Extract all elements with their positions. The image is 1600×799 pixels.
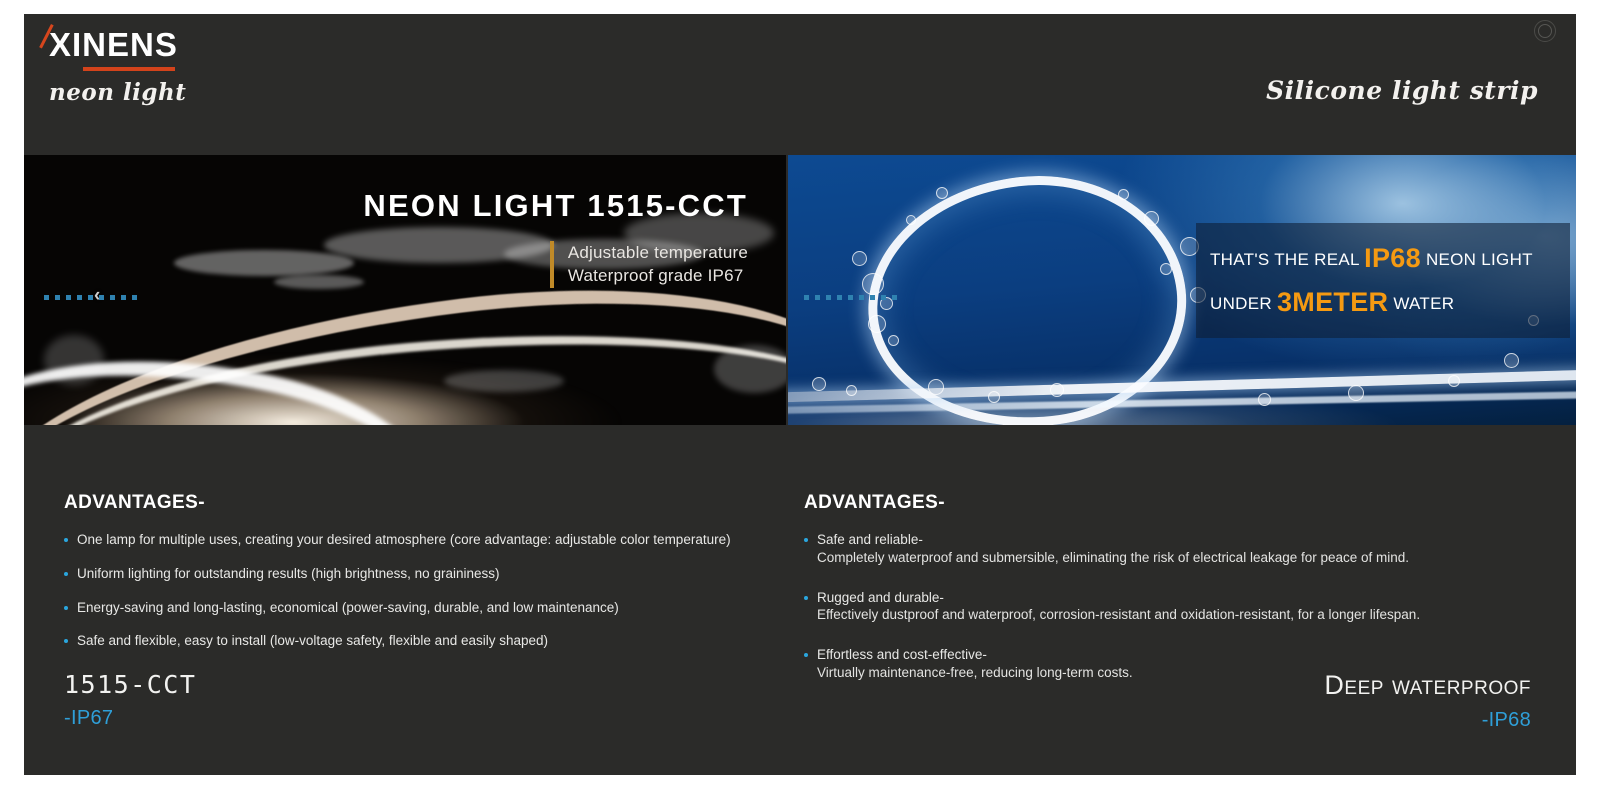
hero-subtitle-left: Adjustable temperature Waterproof grade … xyxy=(550,241,748,288)
bubble xyxy=(846,385,857,396)
advantage-heading: Safe and reliable- xyxy=(817,531,1504,549)
water-splash xyxy=(444,370,564,392)
divider-dot xyxy=(848,295,853,300)
header: XINENS neon light Silicone light strip xyxy=(24,14,1576,155)
divider-dot xyxy=(870,295,875,300)
hero-photo-neon-splash: ‹ NEON LIGHT 1515-CCT Adjustable tempera… xyxy=(24,155,786,425)
footer-deep-waterproof-label: Deep waterproof xyxy=(1324,672,1531,699)
water-splash xyxy=(714,345,786,393)
ip68-callout-line-2: UNDER 3METER WATER xyxy=(1210,281,1558,325)
footer-ip-rating-right: -IP68 xyxy=(1324,710,1531,730)
ip68-line2-pre: UNDER xyxy=(1210,294,1272,313)
ip68-accent: IP68 xyxy=(1364,243,1421,273)
bubble xyxy=(862,273,884,295)
divider-dot xyxy=(881,295,886,300)
advantages-title-right: ADVANTAGES- xyxy=(804,492,1504,514)
ip68-line2-post: WATER xyxy=(1393,294,1454,313)
water-splash xyxy=(174,250,354,276)
bubble xyxy=(1144,211,1159,226)
advantage-heading: Rugged and durable- xyxy=(817,589,1504,607)
logo-underline-accent xyxy=(83,67,175,71)
divider-dot xyxy=(892,295,897,300)
bubble xyxy=(1050,383,1064,397)
bubble xyxy=(936,187,948,199)
advantage-text: One lamp for multiple uses, creating you… xyxy=(77,531,744,549)
divider-dot xyxy=(826,295,831,300)
divider-dot xyxy=(815,295,820,300)
footer-ip-rating-left: -IP67 xyxy=(64,708,196,728)
brand-logo: XINENS xyxy=(47,28,180,61)
advantage-text: Safe and flexible, easy to install (low-… xyxy=(77,632,744,650)
hero-sub-line-2: Waterproof grade IP67 xyxy=(568,264,748,287)
water-splash xyxy=(44,335,104,385)
hero-photo-underwater-loop: THAT'S THE REAL IP68 NEON LIGHT UNDER 3M… xyxy=(788,155,1576,425)
advantage-heading: Effortless and cost-effective- xyxy=(817,646,1504,664)
ip68-callout-box: THAT'S THE REAL IP68 NEON LIGHT UNDER 3M… xyxy=(1196,223,1570,338)
bubble xyxy=(906,215,916,225)
hero-image-row: ‹ NEON LIGHT 1515-CCT Adjustable tempera… xyxy=(24,155,1576,425)
list-item: Uniform lighting for outstanding results… xyxy=(64,565,744,583)
advantage-text: Energy-saving and long-lasting, economic… xyxy=(77,599,744,617)
divider-dot xyxy=(859,295,864,300)
tagline-silicone-light-strip: Silicone light strip xyxy=(1266,76,1538,105)
bubble xyxy=(852,251,867,266)
bubble xyxy=(888,335,899,346)
list-item: Rugged and durable- Effectively dustproo… xyxy=(804,589,1504,625)
divider-dot xyxy=(66,295,71,300)
bubble xyxy=(1348,385,1364,401)
divider-dot xyxy=(804,295,809,300)
list-item: Safe and flexible, easy to install (low-… xyxy=(64,632,744,650)
bubble xyxy=(812,377,826,391)
meter-accent: 3METER xyxy=(1277,287,1388,317)
hero-sub-line-1: Adjustable temperature xyxy=(568,241,748,264)
dot-divider-right xyxy=(804,295,897,300)
advantages-title-left: ADVANTAGES- xyxy=(64,492,744,514)
divider-dot xyxy=(88,295,93,300)
list-item: One lamp for multiple uses, creating you… xyxy=(64,531,744,549)
bubble xyxy=(988,391,1000,403)
divider-dot xyxy=(837,295,842,300)
bubble xyxy=(1160,263,1172,275)
bubble xyxy=(1258,393,1271,406)
advantage-description: Effectively dustproof and waterproof, co… xyxy=(817,606,1504,624)
ip68-line1-post: NEON LIGHT xyxy=(1426,250,1533,269)
bubble xyxy=(1504,353,1519,368)
divider-dot xyxy=(121,295,126,300)
advantage-text: Uniform lighting for outstanding results… xyxy=(77,565,744,583)
tagline-neon-light: neon light xyxy=(49,79,186,106)
advantage-description: Completely waterproof and submersible, e… xyxy=(817,549,1504,567)
list-item: Safe and reliable- Completely waterproof… xyxy=(804,531,1504,567)
list-item: Energy-saving and long-lasting, economic… xyxy=(64,599,744,617)
advantages-list-left: One lamp for multiple uses, creating you… xyxy=(64,531,744,650)
bubble xyxy=(1118,189,1129,200)
concentric-circle-icon xyxy=(1534,20,1556,42)
water-splash xyxy=(274,275,364,289)
advantages-list-right: Safe and reliable- Completely waterproof… xyxy=(804,531,1504,682)
bubble xyxy=(868,315,886,333)
ip68-callout-line-1: THAT'S THE REAL IP68 NEON LIGHT xyxy=(1210,237,1558,281)
bubble xyxy=(928,379,944,395)
divider-dot xyxy=(44,295,49,300)
divider-dot xyxy=(77,295,82,300)
foam-layer xyxy=(788,363,1576,425)
footer-model-label: 1515-CCT xyxy=(64,672,196,697)
advantages-column-left: ADVANTAGES- One lamp for multiple uses, … xyxy=(64,492,744,666)
divider-dot xyxy=(55,295,60,300)
footer-left: 1515-CCT -IP67 xyxy=(64,672,196,728)
bubble xyxy=(1448,375,1460,387)
hero-title-left: NEON LIGHT 1515-CCT xyxy=(363,188,748,224)
ip68-line1-pre: THAT'S THE REAL xyxy=(1210,250,1359,269)
footer-right: Deep waterproof -IP68 xyxy=(1324,672,1531,730)
divider-dot xyxy=(99,295,104,300)
divider-dot xyxy=(110,295,115,300)
slide-canvas: XINENS neon light Silicone light strip ‹… xyxy=(24,14,1576,775)
divider-dot xyxy=(132,295,137,300)
logo-wordmark: XINENS xyxy=(47,28,180,61)
dot-divider-left xyxy=(44,295,137,300)
